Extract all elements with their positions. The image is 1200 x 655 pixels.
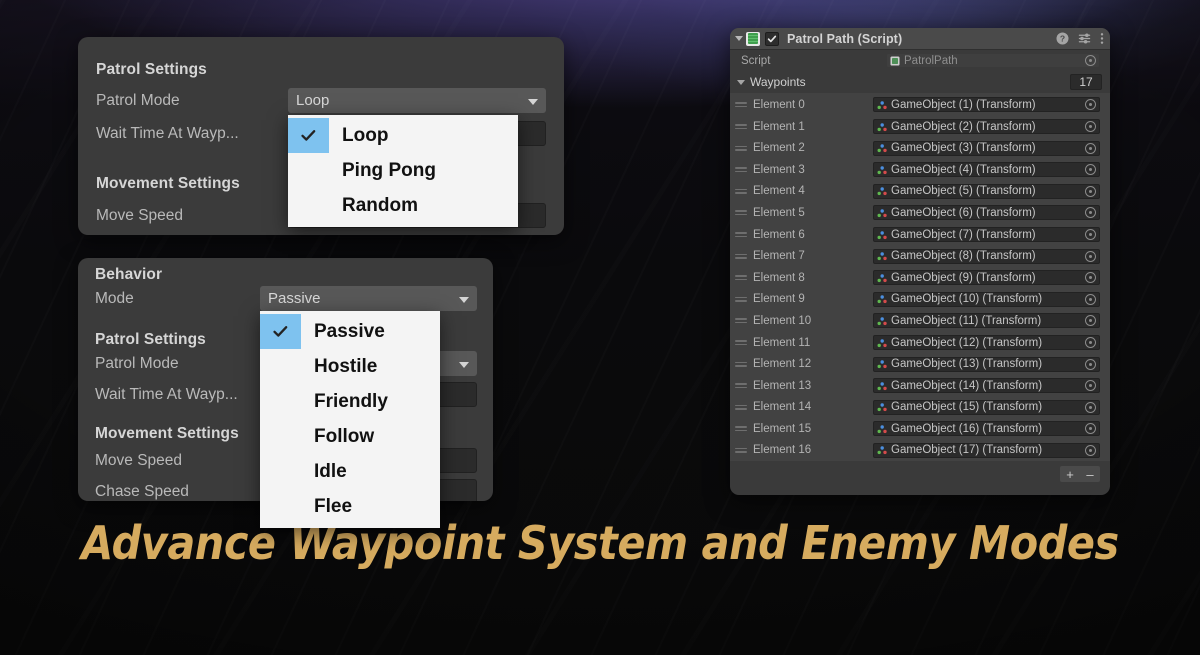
waypoint-object-field[interactable]: GameObject (15) (Transform) — [873, 400, 1100, 415]
remove-element-button[interactable]: – — [1080, 466, 1100, 482]
drag-handle-icon[interactable] — [735, 210, 747, 215]
section-header-behavior-movement-settings: Movement Settings — [95, 425, 239, 443]
waypoint-object-value: GameObject (10) (Transform) — [891, 293, 1085, 305]
field-label-behavior-chase-speed: Chase Speed — [95, 483, 260, 501]
transform-icon — [877, 424, 887, 434]
check-slot — [288, 188, 329, 223]
waypoint-row[interactable]: Element 14GameObject (15) (Transform) — [730, 397, 1110, 419]
patrol-path-inspector: Patrol Path (Script) ? — [730, 28, 1110, 495]
component-enabled-checkbox[interactable] — [765, 32, 779, 46]
chevron-down-icon — [459, 362, 469, 368]
check-slot — [260, 384, 301, 419]
dropdown-option-hostile[interactable]: Hostile — [260, 349, 440, 384]
transform-icon — [877, 316, 887, 326]
waypoint-object-value: GameObject (17) (Transform) — [891, 444, 1085, 456]
dropdown-option-random[interactable]: Random — [288, 188, 518, 223]
enum-dropdown-mode[interactable]: Passive — [260, 286, 477, 311]
script-row-label: Script — [741, 55, 886, 67]
dropdown-option-label: Passive — [301, 321, 385, 343]
dropdown-option-label: Flee — [301, 496, 352, 518]
waypoint-object-field[interactable]: GameObject (4) (Transform) — [873, 162, 1100, 177]
transform-icon — [877, 359, 887, 369]
waypoint-element-label: Element 10 — [753, 315, 873, 327]
object-picker-icon[interactable] — [1085, 423, 1096, 434]
object-picker-icon[interactable] — [1085, 229, 1096, 240]
waypoint-element-label: Element 6 — [753, 229, 873, 241]
section-header-patrol-settings: Patrol Settings — [96, 61, 207, 79]
transform-icon — [877, 100, 887, 110]
waypoint-object-value: GameObject (9) (Transform) — [891, 272, 1085, 284]
dropdown-option-idle[interactable]: Idle — [260, 454, 440, 489]
transform-icon — [877, 273, 887, 283]
dropdown-option-follow[interactable]: Follow — [260, 419, 440, 454]
waypoint-object-value: GameObject (2) (Transform) — [891, 121, 1085, 133]
waypoint-object-value: GameObject (6) (Transform) — [891, 207, 1085, 219]
waypoint-row[interactable]: Element 12GameObject (13) (Transform) — [730, 353, 1110, 375]
waypoint-object-value: GameObject (4) (Transform) — [891, 164, 1085, 176]
waypoint-row[interactable]: Element 7GameObject (8) (Transform) — [730, 245, 1110, 267]
dropdown-option-label: Loop — [329, 125, 388, 147]
waypoint-object-field[interactable]: GameObject (2) (Transform) — [873, 119, 1100, 134]
svg-text:?: ? — [1060, 34, 1065, 44]
object-picker-icon[interactable] — [1085, 55, 1096, 66]
waypoints-list: Element 0GameObject (1) (Transform)Eleme… — [730, 93, 1110, 461]
patrol-mode-dropdown-popup[interactable]: Loop Ping Pong Random — [288, 115, 518, 227]
waypoint-object-value: GameObject (12) (Transform) — [891, 337, 1085, 349]
waypoint-object-field[interactable]: GameObject (10) (Transform) — [873, 292, 1100, 307]
object-picker-icon[interactable] — [1085, 207, 1096, 218]
transform-icon — [877, 338, 887, 348]
screenshot-root: Patrol Settings Patrol Mode Loop Wait Ti… — [0, 0, 1200, 655]
object-picker-icon[interactable] — [1085, 380, 1096, 391]
waypoint-object-value: GameObject (5) (Transform) — [891, 185, 1085, 197]
script-object-value: PatrolPath — [904, 55, 1085, 67]
drag-handle-icon[interactable] — [735, 318, 747, 323]
waypoint-object-field[interactable]: GameObject (8) (Transform) — [873, 249, 1100, 264]
waypoint-row[interactable]: Element 2GameObject (3) (Transform) — [730, 137, 1110, 159]
transform-icon — [877, 208, 887, 218]
chevron-down-icon — [459, 297, 469, 303]
waypoint-object-value: GameObject (16) (Transform) — [891, 423, 1085, 435]
drag-handle-icon[interactable] — [735, 362, 747, 367]
field-row-patrol-mode: Patrol Mode Loop — [96, 88, 546, 113]
field-row-mode: Mode Passive — [95, 286, 477, 311]
object-picker-icon[interactable] — [1085, 315, 1096, 326]
enum-value-patrol-mode: Loop — [296, 92, 329, 109]
field-label-behavior-move-speed: Move Speed — [95, 452, 260, 470]
dropdown-option-label: Random — [329, 195, 418, 217]
waypoints-label: Waypoints — [750, 75, 1070, 89]
waypoint-element-label: Element 11 — [753, 337, 873, 349]
object-picker-icon[interactable] — [1085, 251, 1096, 262]
object-picker-icon[interactable] — [1085, 121, 1096, 132]
object-picker-icon[interactable] — [1085, 164, 1096, 175]
drag-handle-icon[interactable] — [735, 275, 747, 280]
object-picker-icon[interactable] — [1085, 359, 1096, 370]
waypoint-row[interactable]: Element 4GameObject (5) (Transform) — [730, 181, 1110, 203]
waypoint-object-field[interactable]: GameObject (13) (Transform) — [873, 357, 1100, 372]
waypoint-object-value: GameObject (8) (Transform) — [891, 250, 1085, 262]
waypoint-row[interactable]: Element 8GameObject (9) (Transform) — [730, 267, 1110, 289]
waypoint-object-field[interactable]: GameObject (1) (Transform) — [873, 97, 1100, 112]
waypoint-object-field[interactable]: GameObject (12) (Transform) — [873, 335, 1100, 350]
waypoint-row[interactable]: Element 5GameObject (6) (Transform) — [730, 202, 1110, 224]
waypoint-element-label: Element 3 — [753, 164, 873, 176]
waypoint-object-field[interactable]: GameObject (14) (Transform) — [873, 378, 1100, 393]
transform-icon — [877, 445, 887, 455]
waypoint-object-value: GameObject (15) (Transform) — [891, 401, 1085, 413]
drag-handle-icon[interactable] — [735, 102, 747, 107]
drag-handle-icon[interactable] — [735, 297, 747, 302]
object-picker-icon[interactable] — [1085, 337, 1096, 348]
foldout-triangle-icon[interactable] — [735, 36, 743, 41]
waypoint-element-label: Element 13 — [753, 380, 873, 392]
field-label-wait-time: Wait Time At Wayp... — [96, 125, 288, 143]
waypoint-object-value: GameObject (1) (Transform) — [891, 99, 1085, 111]
field-label-behavior-patrol-mode: Patrol Mode — [95, 355, 260, 373]
more-menu-icon[interactable] — [1100, 32, 1104, 45]
dropdown-option-label: Ping Pong — [329, 160, 436, 182]
waypoint-row[interactable]: Element 6GameObject (7) (Transform) — [730, 224, 1110, 246]
script-row: Script PatrolPath — [730, 50, 1110, 72]
waypoints-count-field[interactable]: 17 — [1070, 74, 1102, 90]
waypoint-element-label: Element 9 — [753, 293, 873, 305]
object-picker-icon[interactable] — [1085, 99, 1096, 110]
drag-handle-icon[interactable] — [735, 383, 747, 388]
transform-icon — [877, 381, 887, 391]
field-label-behavior-wait-time: Wait Time At Wayp... — [95, 386, 260, 404]
waypoint-element-label: Element 16 — [753, 444, 873, 456]
drag-handle-icon[interactable] — [735, 448, 747, 453]
waypoints-array-header[interactable]: Waypoints 17 — [730, 72, 1110, 94]
drag-handle-icon[interactable] — [735, 405, 747, 410]
waypoint-row[interactable]: Element 16GameObject (17) (Transform) — [730, 440, 1110, 462]
drag-handle-icon[interactable] — [735, 426, 747, 431]
drag-handle-icon[interactable] — [735, 232, 747, 237]
waypoint-element-label: Element 14 — [753, 401, 873, 413]
inspector-header[interactable]: Patrol Path (Script) ? — [730, 28, 1110, 50]
field-control-mode: Passive — [260, 286, 477, 311]
dropdown-option-label: Hostile — [301, 356, 377, 378]
enum-dropdown-patrol-mode[interactable]: Loop — [288, 88, 546, 113]
foldout-triangle-icon[interactable] — [737, 80, 745, 85]
dropdown-option-flee[interactable]: Flee — [260, 489, 440, 524]
check-icon — [260, 314, 301, 349]
waypoint-element-label: Element 0 — [753, 99, 873, 111]
dropdown-option-label: Follow — [301, 426, 374, 448]
waypoint-element-label: Element 2 — [753, 142, 873, 154]
inspector-title: Patrol Path (Script) — [787, 32, 902, 46]
transform-icon — [877, 122, 887, 132]
check-slot — [260, 489, 301, 524]
page-title: Advance Waypoint System and Enemy Modes — [60, 508, 1140, 578]
section-header-behavior: Behavior — [95, 266, 162, 284]
array-footer: + – — [730, 461, 1110, 487]
section-header-movement-settings: Movement Settings — [96, 175, 240, 193]
drag-handle-icon[interactable] — [735, 146, 747, 151]
dropdown-option-passive[interactable]: Passive — [260, 314, 440, 349]
drag-handle-icon[interactable] — [735, 167, 747, 172]
waypoint-object-field[interactable]: GameObject (16) (Transform) — [873, 421, 1100, 436]
waypoint-row[interactable]: Element 1GameObject (2) (Transform) — [730, 116, 1110, 138]
waypoint-element-label: Element 7 — [753, 250, 873, 262]
waypoint-object-field[interactable]: GameObject (6) (Transform) — [873, 205, 1100, 220]
drag-handle-icon[interactable] — [735, 189, 747, 194]
waypoint-row[interactable]: Element 11GameObject (12) (Transform) — [730, 332, 1110, 354]
object-picker-icon[interactable] — [1085, 272, 1096, 283]
check-slot — [260, 454, 301, 489]
dropdown-option-label: Friendly — [301, 391, 388, 413]
dropdown-option-friendly[interactable]: Friendly — [260, 384, 440, 419]
field-label-patrol-mode: Patrol Mode — [96, 92, 288, 110]
chevron-down-icon — [528, 99, 538, 105]
transform-icon — [877, 402, 887, 412]
object-picker-icon[interactable] — [1085, 186, 1096, 197]
waypoint-row[interactable]: Element 15GameObject (16) (Transform) — [730, 418, 1110, 440]
waypoint-element-label: Element 5 — [753, 207, 873, 219]
check-slot — [288, 153, 329, 188]
waypoint-row[interactable]: Element 0GameObject (1) (Transform) — [730, 94, 1110, 116]
field-label-move-speed: Move Speed — [96, 207, 288, 225]
object-picker-icon[interactable] — [1085, 294, 1096, 305]
waypoint-element-label: Element 1 — [753, 121, 873, 133]
waypoint-object-value: GameObject (14) (Transform) — [891, 380, 1085, 392]
waypoint-row[interactable]: Element 3GameObject (4) (Transform) — [730, 159, 1110, 181]
drag-handle-icon[interactable] — [735, 254, 747, 259]
check-icon — [288, 118, 329, 153]
waypoint-object-field[interactable]: GameObject (7) (Transform) — [873, 227, 1100, 242]
dropdown-option-loop[interactable]: Loop — [288, 118, 518, 153]
waypoint-element-label: Element 15 — [753, 423, 873, 435]
add-element-button[interactable]: + — [1060, 466, 1080, 482]
waypoint-object-value: GameObject (3) (Transform) — [891, 142, 1085, 154]
dropdown-option-label: Idle — [301, 461, 347, 483]
preset-icon[interactable] — [1078, 32, 1091, 45]
transform-icon — [877, 165, 887, 175]
field-control-patrol-mode: Loop — [288, 88, 546, 113]
transform-icon — [877, 294, 887, 304]
waypoint-object-value: GameObject (7) (Transform) — [891, 229, 1085, 241]
waypoint-object-value: GameObject (13) (Transform) — [891, 358, 1085, 370]
object-picker-icon[interactable] — [1085, 143, 1096, 154]
array-buttons: + – — [1060, 466, 1100, 482]
waypoint-object-field[interactable]: GameObject (9) (Transform) — [873, 270, 1100, 285]
script-component-icon — [746, 32, 760, 46]
waypoint-object-value: GameObject (11) (Transform) — [891, 315, 1085, 327]
transform-icon — [877, 251, 887, 261]
help-icon[interactable]: ? — [1056, 32, 1069, 45]
drag-handle-icon[interactable] — [735, 124, 747, 129]
waypoint-object-field[interactable]: GameObject (5) (Transform) — [873, 184, 1100, 199]
field-label-mode: Mode — [95, 290, 260, 308]
section-header-behavior-patrol-settings: Patrol Settings — [95, 331, 206, 349]
waypoint-row[interactable]: Element 9GameObject (10) (Transform) — [730, 289, 1110, 311]
waypoint-row[interactable]: Element 10GameObject (11) (Transform) — [730, 310, 1110, 332]
script-object-field[interactable]: PatrolPath — [886, 53, 1100, 68]
waypoint-object-field[interactable]: GameObject (17) (Transform) — [873, 443, 1100, 458]
script-asset-icon — [890, 56, 900, 66]
object-picker-icon[interactable] — [1085, 445, 1096, 456]
drag-handle-icon[interactable] — [735, 340, 747, 345]
waypoint-element-label: Element 12 — [753, 358, 873, 370]
waypoint-object-field[interactable]: GameObject (11) (Transform) — [873, 313, 1100, 328]
check-slot — [260, 419, 301, 454]
object-picker-icon[interactable] — [1085, 402, 1096, 413]
enum-value-mode: Passive — [268, 290, 321, 307]
waypoint-element-label: Element 4 — [753, 185, 873, 197]
waypoint-object-field[interactable]: GameObject (3) (Transform) — [873, 141, 1100, 156]
check-slot — [260, 349, 301, 384]
transform-icon — [877, 186, 887, 196]
waypoint-element-label: Element 8 — [753, 272, 873, 284]
waypoint-row[interactable]: Element 13GameObject (14) (Transform) — [730, 375, 1110, 397]
transform-icon — [877, 230, 887, 240]
behavior-mode-dropdown-popup[interactable]: Passive Hostile Friendly Follow Idle Fle… — [260, 311, 440, 528]
transform-icon — [877, 143, 887, 153]
dropdown-option-ping-pong[interactable]: Ping Pong — [288, 153, 518, 188]
